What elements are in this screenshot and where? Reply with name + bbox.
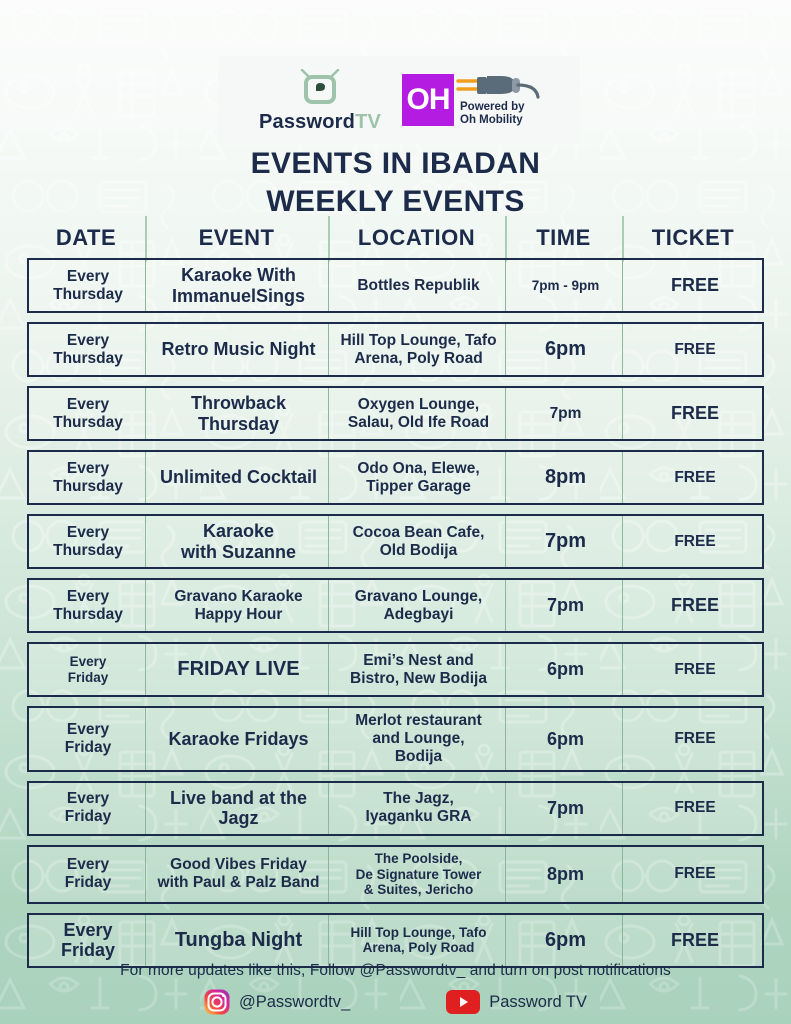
table-header-row: DATE EVENT LOCATION TIME TICKET xyxy=(27,218,764,258)
cell-divider-1 xyxy=(145,452,146,503)
cell-location: Merlot restaurantand Lounge,Bodija xyxy=(330,708,507,770)
cell-time: 7pm xyxy=(507,516,624,567)
cell-location: Odo Ona, Elewe,Tipper Garage xyxy=(330,452,507,503)
table-row: EveryThursdayKaraokewith SuzanneCocoa Be… xyxy=(27,514,764,569)
poster-title-block: EVENTS IN IBADAN WEEKLY EVENTS xyxy=(0,145,791,220)
cell-location: Gravano Lounge,Adegbayi xyxy=(330,580,507,631)
cell-divider-3 xyxy=(505,915,506,966)
oh-mobility-logo: OH Powered by Oh Mobility xyxy=(402,74,542,127)
cell-divider-4 xyxy=(622,388,623,439)
cell-divider-1 xyxy=(145,915,146,966)
cell-time: 7pm - 9pm xyxy=(507,260,624,311)
cell-time: 6pm xyxy=(507,708,624,770)
logo-banner: PasswordTV OH Powered by Oh Mobility xyxy=(218,56,580,144)
cell-divider-3 xyxy=(505,783,506,834)
cell-divider-1 xyxy=(145,324,146,375)
table-row: EveryFridayLive band at theJagzThe Jagz,… xyxy=(27,781,764,836)
cell-location: Hill Top Lounge, TafoArena, Poly Road xyxy=(330,915,507,966)
cell-event: ThrowbackThursday xyxy=(147,388,330,439)
cell-ticket: FREE xyxy=(624,783,766,834)
cell-event: FRIDAY LIVE xyxy=(147,644,330,695)
footer: For more updates like this, Follow @Pass… xyxy=(0,962,791,1015)
passwordtv-word-tv: TV xyxy=(355,111,381,133)
oh-logo-square: OH xyxy=(402,74,454,126)
table-row: EveryThursdayGravano KaraokeHappy HourGr… xyxy=(27,578,764,633)
cell-date: EveryThursday xyxy=(29,580,147,631)
column-header-location: LOCATION xyxy=(328,225,505,251)
cell-location: Emi’s Nest andBistro, New Bodija xyxy=(330,644,507,695)
cell-divider-2 xyxy=(328,915,329,966)
column-header-time: TIME xyxy=(505,225,622,251)
cell-time: 8pm xyxy=(507,452,624,503)
cell-divider-1 xyxy=(145,260,146,311)
cell-time: 6pm xyxy=(507,644,624,695)
cell-divider-4 xyxy=(622,260,623,311)
cell-ticket: FREE xyxy=(624,708,766,770)
cell-date: EveryFriday xyxy=(29,644,147,695)
cell-divider-1 xyxy=(145,708,146,770)
cell-divider-3 xyxy=(505,516,506,567)
cell-divider-4 xyxy=(622,708,623,770)
cell-divider-3 xyxy=(505,708,506,770)
title-line-2: WEEKLY EVENTS xyxy=(0,183,791,221)
table-row: EveryThursdayRetro Music NightHill Top L… xyxy=(27,322,764,377)
cell-date: EveryThursday xyxy=(29,388,147,439)
events-table: DATE EVENT LOCATION TIME TICKET EveryThu… xyxy=(27,218,764,977)
header-divider-1 xyxy=(145,216,147,262)
cell-divider-2 xyxy=(328,260,329,311)
cell-event: Retro Music Night xyxy=(147,324,330,375)
cell-ticket: FREE xyxy=(624,388,766,439)
cell-location: The Poolside,De Signature Tower& Suites,… xyxy=(330,847,507,902)
cell-date: EveryThursday xyxy=(29,324,147,375)
cell-event: Karaoke WithImmanuelSings xyxy=(147,260,330,311)
cell-location: The Jagz,Iyaganku GRA xyxy=(330,783,507,834)
tv-icon xyxy=(297,69,343,109)
cell-divider-3 xyxy=(505,452,506,503)
cell-divider-4 xyxy=(622,644,623,695)
cell-divider-4 xyxy=(622,847,623,902)
cell-time: 7pm xyxy=(507,783,624,834)
cell-divider-4 xyxy=(622,783,623,834)
cell-time: 7pm xyxy=(507,388,624,439)
oh-mobility-caption: Powered by Oh Mobility xyxy=(460,101,525,127)
cell-location: Cocoa Bean Cafe,Old Bodija xyxy=(330,516,507,567)
cell-divider-3 xyxy=(505,847,506,902)
table-row: EveryThursdayKaraoke WithImmanuelSingsBo… xyxy=(27,258,764,313)
cell-event: Good Vibes Fridaywith Paul & Palz Band xyxy=(147,847,330,902)
title-line-1: EVENTS IN IBADAN xyxy=(0,145,791,183)
cell-location: Oxygen Lounge,Salau, Old Ife Road xyxy=(330,388,507,439)
youtube-link[interactable]: Password TV xyxy=(446,990,587,1014)
cell-event: Unlimited Cocktail xyxy=(147,452,330,503)
cell-divider-1 xyxy=(145,644,146,695)
cell-divider-2 xyxy=(328,516,329,567)
cell-time: 6pm xyxy=(507,915,624,966)
cell-event: Tungba Night xyxy=(147,915,330,966)
cell-date: EveryFriday xyxy=(29,783,147,834)
cell-divider-3 xyxy=(505,388,506,439)
cell-time: 6pm xyxy=(507,324,624,375)
cell-ticket: FREE xyxy=(624,847,766,902)
cell-date: EveryThursday xyxy=(29,260,147,311)
cell-divider-3 xyxy=(505,580,506,631)
oh-mobility-caption-block: Powered by Oh Mobility xyxy=(460,74,542,127)
cell-time: 7pm xyxy=(507,580,624,631)
cell-event: Live band at theJagz xyxy=(147,783,330,834)
cell-event: Karaokewith Suzanne xyxy=(147,516,330,567)
passwordtv-word-password: Password xyxy=(259,111,355,133)
header-divider-3 xyxy=(505,216,507,262)
cell-ticket: FREE xyxy=(624,915,766,966)
cell-ticket: FREE xyxy=(624,452,766,503)
cell-divider-4 xyxy=(622,516,623,567)
passwordtv-wordmark: PasswordTV xyxy=(259,112,381,132)
social-links: @Passwordtv_ Password TV xyxy=(0,989,791,1015)
instagram-icon[interactable] xyxy=(204,989,230,1015)
youtube-icon[interactable] xyxy=(446,990,480,1014)
cell-ticket: FREE xyxy=(624,580,766,631)
cell-divider-3 xyxy=(505,324,506,375)
cell-divider-4 xyxy=(622,324,623,375)
cell-divider-4 xyxy=(622,580,623,631)
cell-divider-2 xyxy=(328,452,329,503)
cell-divider-3 xyxy=(505,260,506,311)
cell-event: Karaoke Fridays xyxy=(147,708,330,770)
cell-divider-2 xyxy=(328,708,329,770)
oh-caption-line1: Powered by xyxy=(460,101,525,113)
table-row: EveryFridayFRIDAY LIVEEmi’s Nest andBist… xyxy=(27,642,764,697)
column-header-date: DATE xyxy=(27,225,145,251)
cell-ticket: FREE xyxy=(624,324,766,375)
poster-canvas: PasswordTV OH Powered by Oh Mobility xyxy=(0,0,791,1024)
cell-ticket: FREE xyxy=(624,260,766,311)
table-row: EveryFridayGood Vibes Fridaywith Paul & … xyxy=(27,845,764,904)
cell-divider-2 xyxy=(328,644,329,695)
instagram-link[interactable]: @Passwordtv_ xyxy=(204,989,350,1015)
power-plug-icon xyxy=(456,74,542,100)
table-row: EveryFridayTungba NightHill Top Lounge, … xyxy=(27,913,764,968)
cell-divider-4 xyxy=(622,452,623,503)
column-header-ticket: TICKET xyxy=(622,225,764,251)
cell-divider-2 xyxy=(328,847,329,902)
cell-location: Hill Top Lounge, TafoArena, Poly Road xyxy=(330,324,507,375)
cell-divider-2 xyxy=(328,783,329,834)
cell-divider-1 xyxy=(145,783,146,834)
oh-caption-line2: Oh Mobility xyxy=(460,114,523,126)
instagram-handle[interactable]: @Passwordtv_ xyxy=(239,993,350,1012)
cell-divider-4 xyxy=(622,915,623,966)
cell-time: 8pm xyxy=(507,847,624,902)
header-divider-2 xyxy=(328,216,330,262)
youtube-channel-name[interactable]: Password TV xyxy=(489,993,587,1012)
cell-divider-3 xyxy=(505,644,506,695)
table-row: EveryThursdayUnlimited CocktailOdo Ona, … xyxy=(27,450,764,505)
cell-divider-1 xyxy=(145,847,146,902)
cell-date: EveryFriday xyxy=(29,708,147,770)
cell-divider-2 xyxy=(328,580,329,631)
cell-divider-2 xyxy=(328,324,329,375)
cell-location: Bottles Republik xyxy=(330,260,507,311)
cell-date: EveryFriday xyxy=(29,915,147,966)
cell-date: EveryThursday xyxy=(29,516,147,567)
cell-ticket: FREE xyxy=(624,516,766,567)
table-body: EveryThursdayKaraoke WithImmanuelSingsBo… xyxy=(27,258,764,968)
cell-date: EveryThursday xyxy=(29,452,147,503)
cell-date: EveryFriday xyxy=(29,847,147,902)
cell-divider-2 xyxy=(328,388,329,439)
passwordtv-logo: PasswordTV xyxy=(256,69,384,132)
cell-divider-1 xyxy=(145,388,146,439)
header-divider-4 xyxy=(622,216,624,262)
cell-divider-1 xyxy=(145,580,146,631)
cell-event: Gravano KaraokeHappy Hour xyxy=(147,580,330,631)
cell-divider-1 xyxy=(145,516,146,567)
table-row: EveryFridayKaraoke FridaysMerlot restaur… xyxy=(27,706,764,772)
footer-message: For more updates like this, Follow @Pass… xyxy=(0,962,791,980)
cell-ticket: FREE xyxy=(624,644,766,695)
column-header-event: EVENT xyxy=(145,225,328,251)
table-row: EveryThursdayThrowbackThursdayOxygen Lou… xyxy=(27,386,764,441)
